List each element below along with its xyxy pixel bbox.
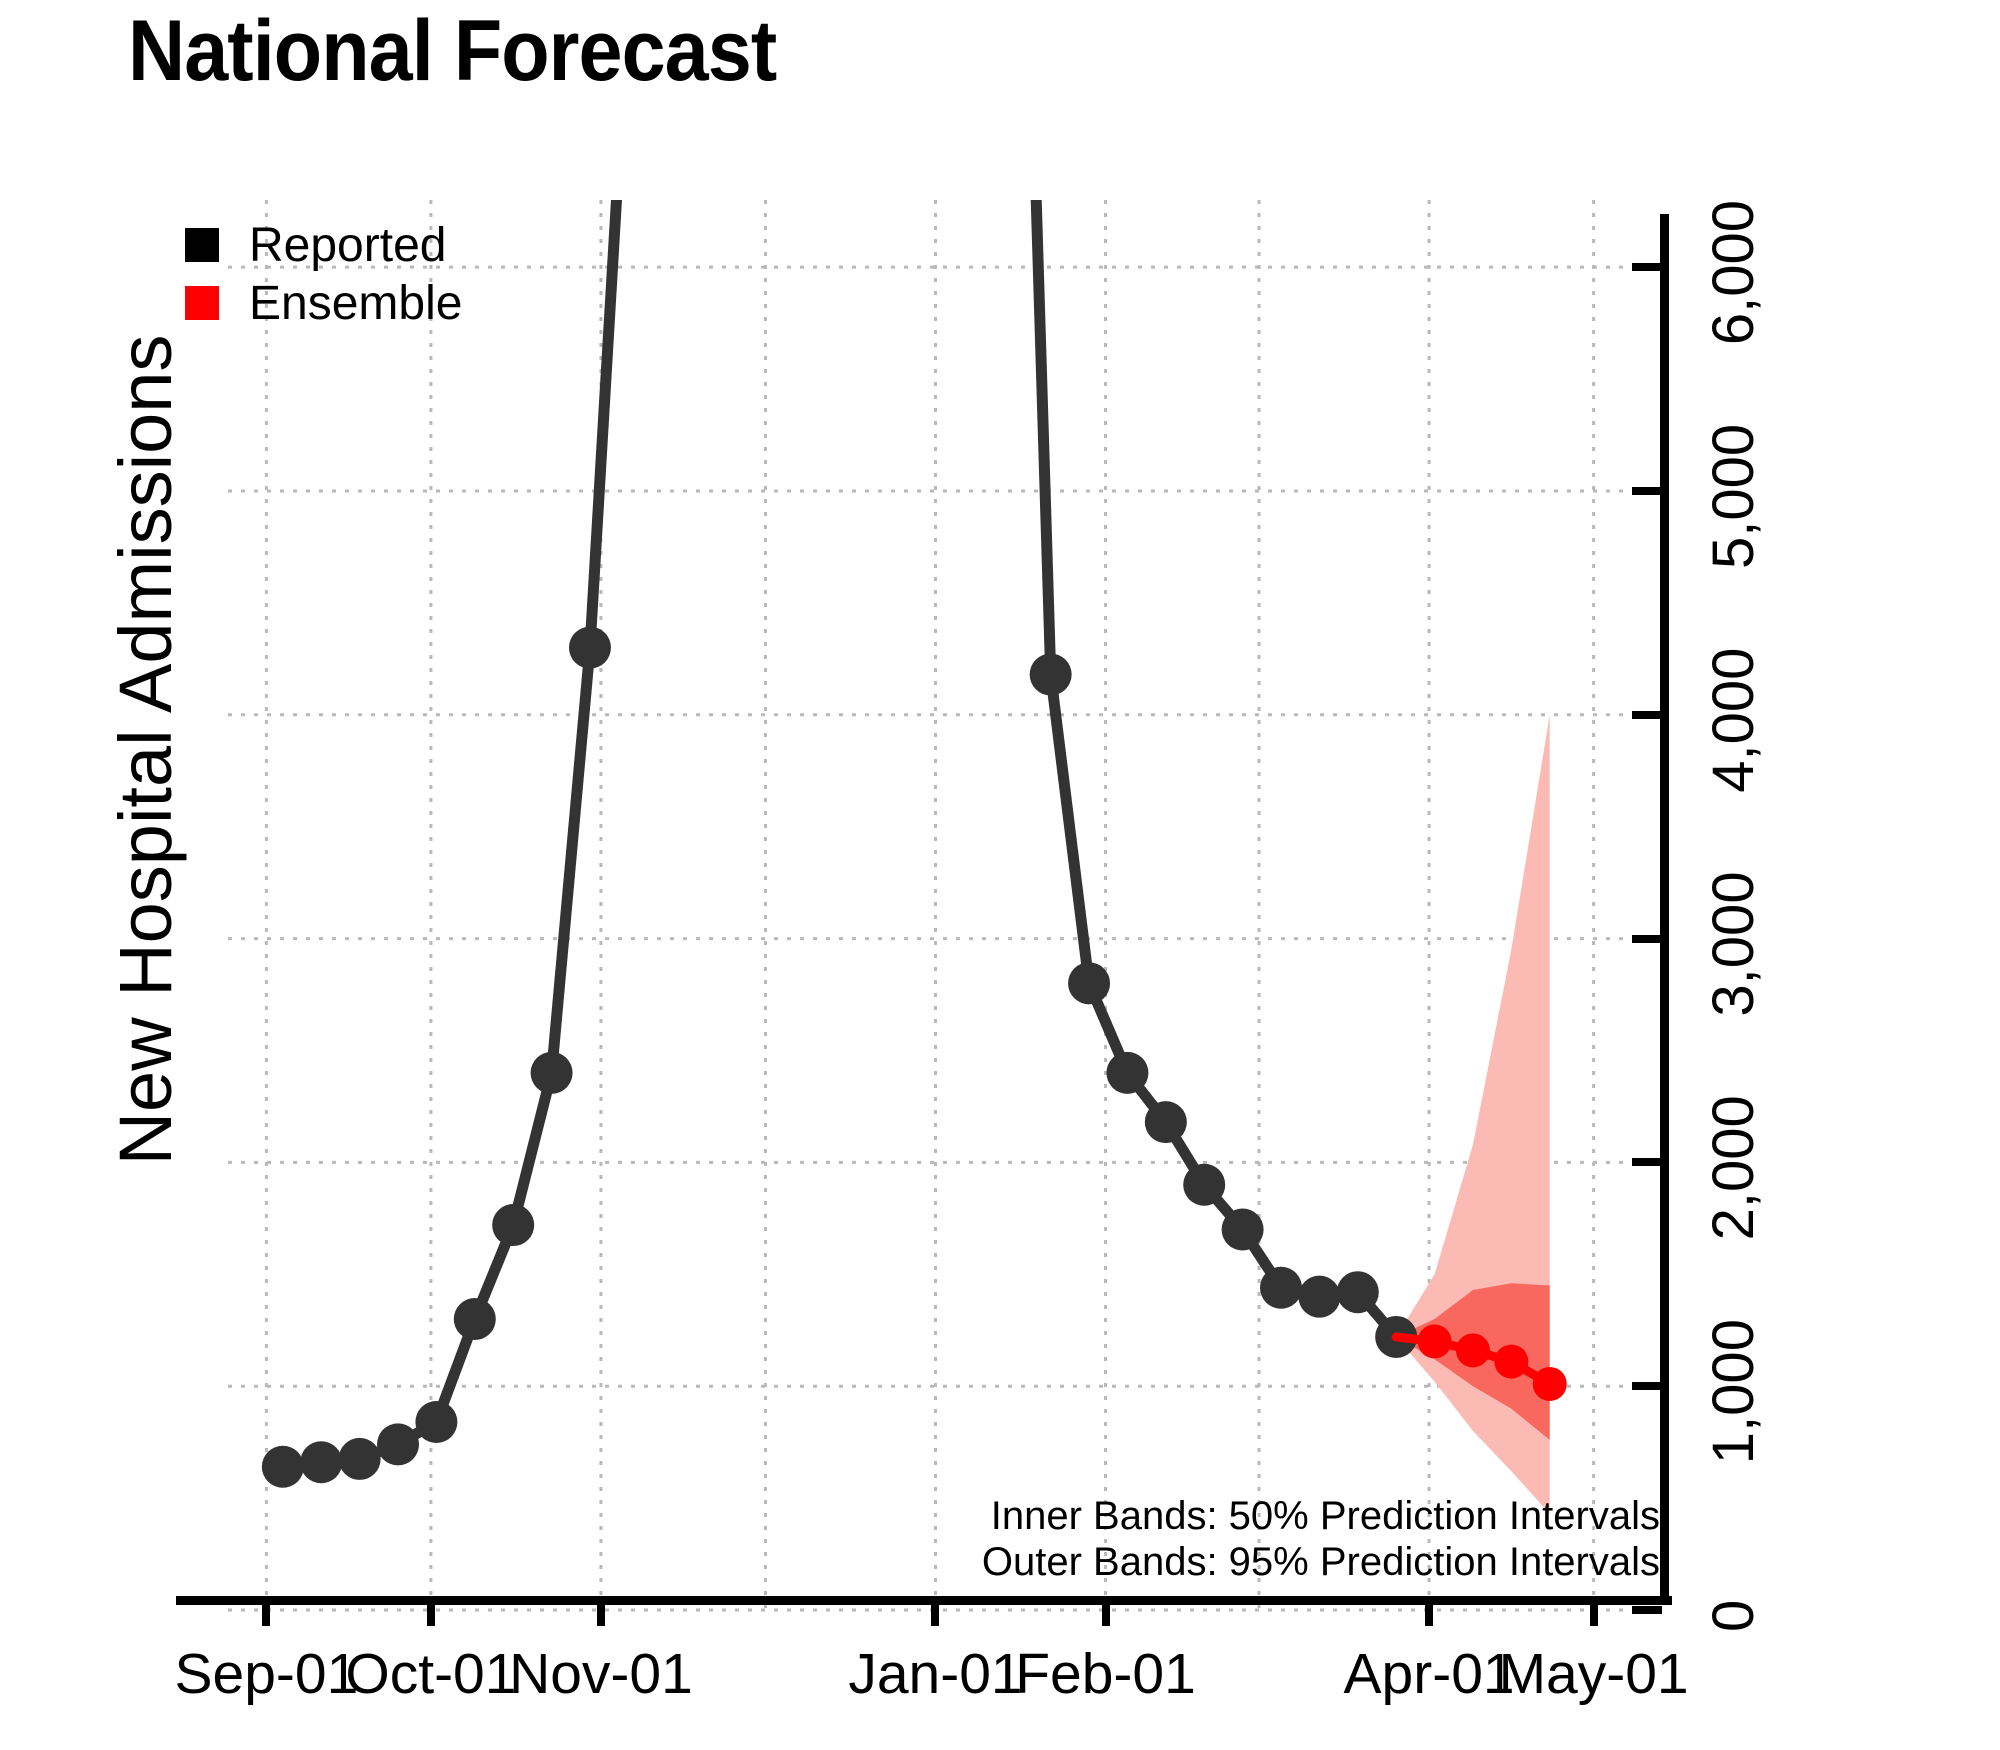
inner-band-note: Inner Bands: 50% Prediction Intervals [982,1493,1660,1539]
x-axis-tick-label: Nov-01 [509,1641,693,1707]
x-axis-tick [1425,1596,1433,1626]
y-axis-tick-label: 4,000 [1700,648,1767,793]
y-axis-tick-label: 1,000 [1700,1319,1767,1464]
y-axis-tick [1632,1382,1662,1390]
y-axis-tick-label: 3,000 [1700,871,1767,1016]
x-axis-tick-label: Jan-01 [848,1641,1022,1707]
y-axis-tick-label: 6,000 [1700,200,1767,345]
prediction-interval-note: Inner Bands: 50% Prediction Intervals Ou… [982,1493,1660,1586]
x-axis-tick-label: Feb-01 [1015,1641,1196,1707]
x-axis-tick-label: May-01 [1499,1641,1689,1707]
legend-swatch-ensemble [185,286,219,320]
legend-swatch-reported [185,228,219,262]
y-axis-tick [1632,1606,1662,1614]
page-title: National Forecast [128,2,776,101]
outer-band-note: Outer Bands: 95% Prediction Intervals [982,1539,1660,1585]
y-axis-tick [1632,487,1662,495]
plot-area [228,200,1632,1610]
y-axis-tick [1632,935,1662,943]
y-axis-tick [1632,1158,1662,1166]
chart-page: National Forecast New Hospital Admission… [0,0,2000,1750]
x-axis-tick [262,1596,270,1626]
legend-label-ensemble: Ensemble [249,276,462,331]
y-axis-tick-label: 0 [1700,1600,1767,1632]
x-axis-line [176,1596,1672,1605]
y-axis-tick-label: 2,000 [1700,1095,1767,1240]
x-axis-tick [931,1596,939,1626]
x-axis-tick [1590,1596,1598,1626]
y-axis-tick-label: 5,000 [1700,424,1767,569]
y-axis-tick [1632,711,1662,719]
y-axis-tick [1632,263,1662,271]
x-axis-tick [1102,1596,1110,1626]
x-axis-tick [597,1596,605,1626]
x-axis-tick-label: Apr-01 [1344,1641,1515,1707]
x-axis-tick [427,1596,435,1626]
legend-label-reported: Reported [249,218,446,273]
x-axis-tick-label: Sep-01 [174,1641,358,1707]
plot-canvas [228,200,1632,1610]
x-axis-tick-label: Oct-01 [345,1641,516,1707]
